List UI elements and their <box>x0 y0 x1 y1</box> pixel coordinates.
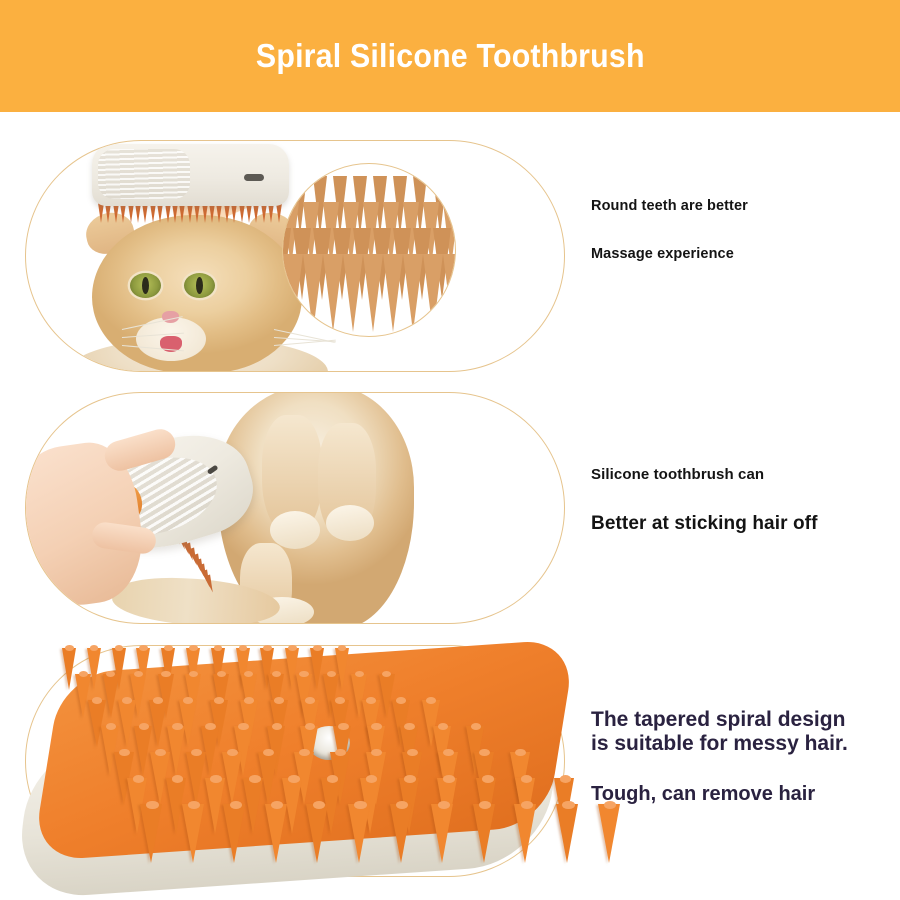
spike-tip <box>146 801 158 809</box>
spike-tip <box>482 775 494 783</box>
spike-tip <box>214 697 224 704</box>
panel-3-captions: The tapered spiral design is suitable fo… <box>591 708 896 806</box>
spike-tip <box>134 671 143 677</box>
spike-tip <box>443 775 455 783</box>
spike-tip <box>172 775 184 783</box>
feature-panel-2 <box>25 392 565 624</box>
spike-tip <box>238 723 248 730</box>
spike-tip <box>327 775 339 783</box>
spike-tip <box>139 645 148 651</box>
cat-eye-right <box>184 273 215 298</box>
spike-tip <box>263 645 272 651</box>
spike-tip <box>65 645 74 651</box>
spike-tip <box>205 723 215 730</box>
magnifier-circle <box>282 163 456 337</box>
spike-tip <box>90 645 99 651</box>
spike-tip <box>438 723 448 730</box>
panel-1-caption-1: Round teeth are better <box>591 198 891 214</box>
spike-tip <box>210 775 222 783</box>
spike-tip <box>521 775 533 783</box>
spike-tip <box>562 801 574 809</box>
panel-3-caption-2: Tough, can remove hair <box>591 783 896 806</box>
spike-tip <box>79 671 88 677</box>
spike-tip <box>366 697 376 704</box>
spike-tip <box>244 697 254 704</box>
panel-1-caption-2: Massage experience <box>591 246 891 262</box>
spike-tip <box>272 723 282 730</box>
panel-1-captions: Round teeth are better Massage experienc… <box>591 198 891 262</box>
spike-tip <box>335 697 345 704</box>
spike-tip <box>288 775 300 783</box>
spike-tip <box>355 671 364 677</box>
panel-3-artwork <box>26 646 564 876</box>
spike-tip <box>404 723 414 730</box>
indicator-light-icon <box>207 465 219 475</box>
panel-2-caption-2: Better at sticking hair off <box>591 513 891 535</box>
spike-tip <box>183 697 193 704</box>
cat-eye-left <box>130 273 161 298</box>
panel-2-artwork <box>26 393 564 623</box>
panel-2-captions: Silicone toothbrush can Better at sticki… <box>591 466 891 535</box>
spike-tip <box>366 775 378 783</box>
spike-tip <box>161 671 170 677</box>
cat-paw-right <box>326 505 374 541</box>
spike-tip <box>338 723 348 730</box>
spike-tip <box>305 697 315 704</box>
spike-tip <box>217 671 226 677</box>
spike-tip <box>396 697 406 704</box>
brush-device-body <box>92 144 289 206</box>
feature-panel-3 <box>25 645 565 877</box>
spike-tip <box>560 775 572 783</box>
spike-tip <box>239 645 248 651</box>
spike-tip <box>92 697 102 704</box>
panel-1-artwork <box>26 141 564 371</box>
spike-tip <box>106 723 116 730</box>
header-banner: Spiral Silicone Toothbrush <box>0 0 900 112</box>
spike-tip <box>299 671 308 677</box>
brush-bristle-row <box>98 203 284 229</box>
panel-3-caption-line-a: The tapered spiral design <box>591 708 845 731</box>
spike-tip <box>274 697 284 704</box>
panel-3-caption-1: The tapered spiral design is suitable fo… <box>591 708 896 757</box>
spike-tip <box>249 775 261 783</box>
spike-tip <box>426 697 436 704</box>
spike-tip <box>404 775 416 783</box>
spike-tip <box>214 645 223 651</box>
cat-paw-left <box>270 511 320 549</box>
panel-3-caption-line-b: is suitable for messy hair. <box>591 732 848 755</box>
spike-tip <box>354 801 366 809</box>
feature-panel-1 <box>25 140 565 372</box>
spike-tip <box>371 723 381 730</box>
spike-tip <box>164 645 173 651</box>
spike-tip <box>115 645 124 651</box>
usb-port-icon <box>244 174 264 181</box>
spike-tip <box>288 645 297 651</box>
page-title: Spiral Silicone Toothbrush <box>256 37 645 75</box>
spike-tip <box>122 697 132 704</box>
spike-tip <box>172 723 182 730</box>
spike-tip <box>189 645 198 651</box>
spike-tip <box>313 645 322 651</box>
spike-tip <box>133 775 145 783</box>
spike-tip <box>153 697 163 704</box>
spike-tip <box>338 645 347 651</box>
panel-2-caption-1: Silicone toothbrush can <box>591 466 891 483</box>
spike-tip <box>272 671 281 677</box>
